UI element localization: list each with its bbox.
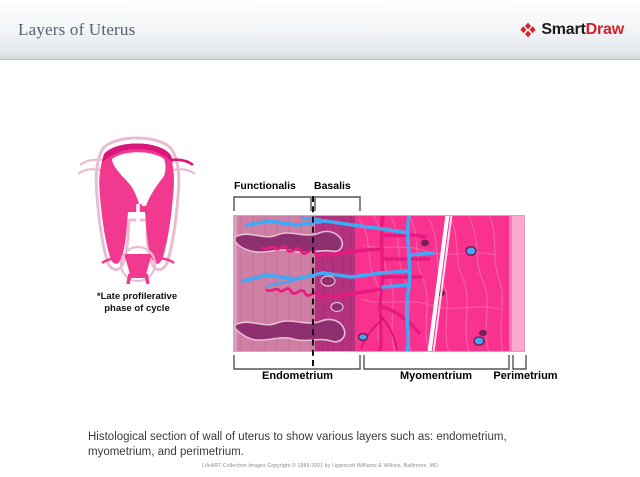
label-perimetrium: Perimetrium <box>478 370 573 382</box>
diamond-cluster-icon <box>520 22 536 38</box>
slide-description: Histological section of wall of uterus t… <box>88 430 568 460</box>
copyright-credit: LifeART Collection Images Copyright © 19… <box>0 463 640 469</box>
label-endometrium: Endometrium <box>234 370 361 382</box>
slide-header: Layers of Uterus SmartDraw <box>0 0 640 60</box>
bracket-basalis <box>314 196 361 217</box>
uterus-caption: *Late profilerative phase of cycle <box>72 291 202 314</box>
smartdraw-logo: SmartDraw <box>520 21 624 39</box>
uterus-illustration <box>72 124 202 284</box>
histology-section <box>233 215 525 352</box>
logo-text-smart: Smart <box>541 21 585 38</box>
uterus-caption-line1: *Late profilerative <box>97 291 177 302</box>
slide-canvas: Layers of Uterus SmartDraw <box>0 0 640 477</box>
page-title: Layers of Uterus <box>18 20 135 40</box>
uterus-caption-line2: phase of cycle <box>104 303 169 314</box>
bracket-functionalis <box>233 196 312 217</box>
label-basalis: Basalis <box>314 180 351 192</box>
logo-text-draw: Draw <box>586 21 624 38</box>
label-functionalis: Functionalis <box>234 180 296 192</box>
functionalis-basalis-divider <box>312 196 314 366</box>
